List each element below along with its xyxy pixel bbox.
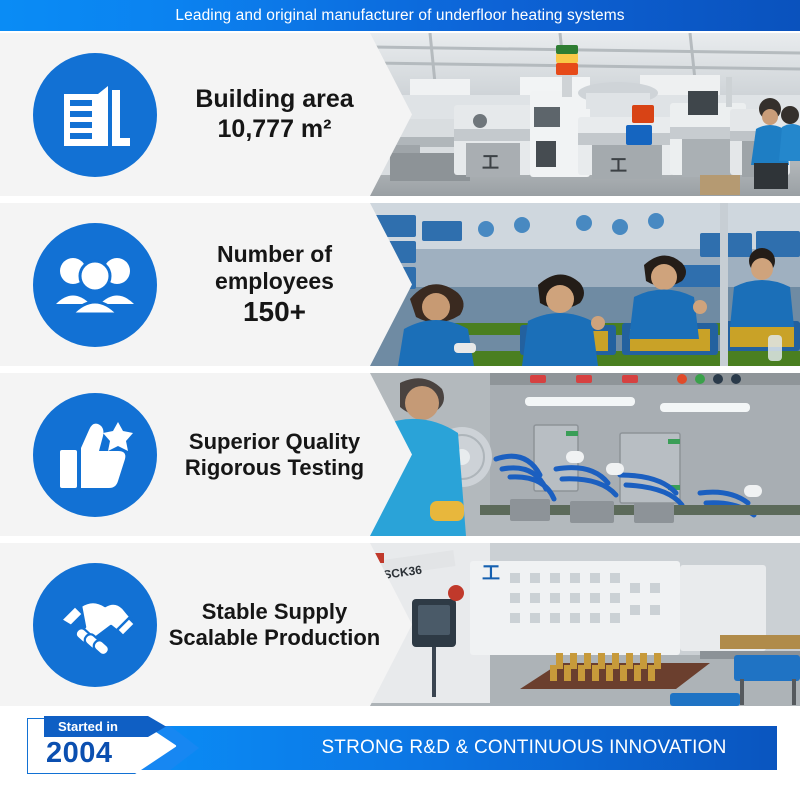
svg-text:工: 工 [610,156,627,175]
year-value: 2004 [28,737,113,773]
photo-assembly-line-art [370,203,800,366]
svg-text:工: 工 [482,563,500,583]
info-panel-quality: Superior Quality Rigorous Testing [0,373,412,536]
photo-cnc-machine-art: SCK36 工 [370,543,800,706]
info-panel-building: Building area 10,777 m² [0,33,412,196]
photo-machine-shop: 工 工 [370,33,800,196]
photo-testing-station [370,373,800,536]
building-icon [58,78,132,152]
feature-row-employees: Number of employees 150+ [0,203,800,366]
row-line2: Scalable Production [163,625,386,651]
svg-text:工: 工 [482,153,499,172]
row-line1: Number of employees [163,241,386,295]
handshake-icon-badge [33,563,157,687]
people-group-icon [56,248,134,322]
row-line1: Superior Quality [163,429,386,455]
info-text-building: Building area 10,777 m² [157,85,412,144]
row-line1: Stable Supply [163,599,386,625]
thumbs-up-star-icon-badge [33,393,157,517]
info-text-quality: Superior Quality Rigorous Testing [157,429,412,481]
row-line2: 10,777 m² [163,115,386,145]
photo-cnc-machine: SCK36 工 [370,543,800,706]
building-icon-badge [33,53,157,177]
header-banner: Leading and original manufacturer of und… [0,0,800,31]
handshake-icon [55,590,135,660]
photo-assembly-line [370,203,800,366]
people-group-icon-badge [33,223,157,347]
info-panel-employees: Number of employees 150+ [0,203,412,366]
thumbs-up-star-icon [56,418,134,492]
photo-testing-station-art [370,373,800,536]
footer-banner: STRONG R&D & CONTINUOUS INNOVATION 2004 … [0,712,800,774]
feature-row-supply: SCK36 工 [0,543,800,706]
row-line2: Rigorous Testing [163,455,386,481]
feature-rows: 工 工 [0,33,800,705]
feature-row-building: 工 工 [0,33,800,196]
row-line1: Building area [163,85,386,115]
info-panel-supply: Stable Supply Scalable Production [0,543,412,706]
year-badge: 2004 Started in [27,718,242,774]
row-line2: 150+ [163,295,386,328]
feature-row-quality: Superior Quality Rigorous Testing [0,373,800,536]
footer-slogan: STRONG R&D & CONTINUOUS INNOVATION [171,737,726,759]
header-tagline: Leading and original manufacturer of und… [175,7,624,25]
started-label: Started in [44,719,118,734]
started-ribbon: Started in [44,716,166,737]
info-text-employees: Number of employees 150+ [157,241,412,328]
info-text-supply: Stable Supply Scalable Production [157,599,412,651]
photo-machine-shop-art: 工 工 [370,33,800,196]
